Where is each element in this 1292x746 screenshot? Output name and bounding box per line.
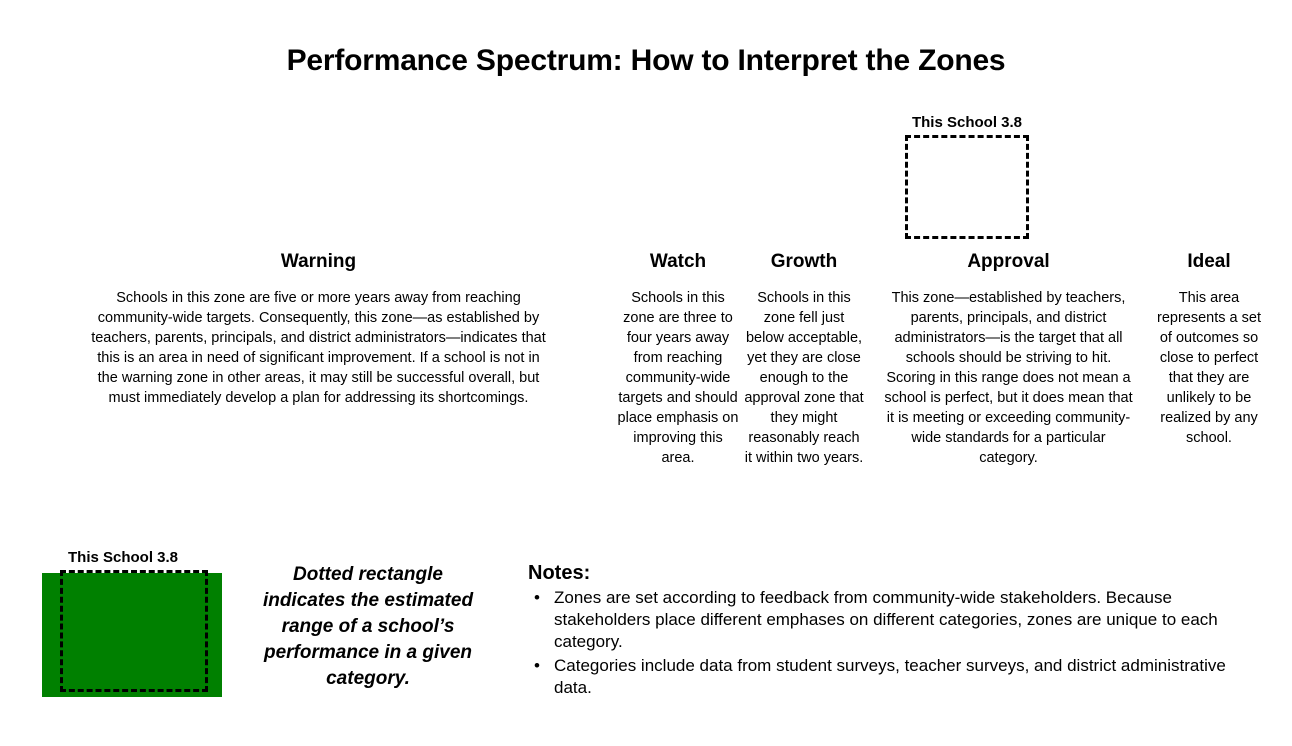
zone-column-watch: Watch Schools in this zone are three to … <box>615 250 741 468</box>
zone-columns: Warning Schools in this zone are five or… <box>22 250 1268 468</box>
legend-caption: Dotted rectangle indicates the estimated… <box>252 562 484 692</box>
zone-column-warning: Warning Schools in this zone are five or… <box>22 250 615 408</box>
notes-list: • Zones are set according to feedback fr… <box>528 587 1228 699</box>
this-school-marker: This School 3.8 <box>905 113 1029 239</box>
bullet-icon: • <box>534 655 540 677</box>
this-school-marker-dotted-rect <box>905 135 1029 239</box>
zone-description-approval: This zone—established by teachers, paren… <box>867 288 1150 468</box>
zone-label-approval: Approval <box>867 250 1150 274</box>
zone-description-watch: Schools in this zone are three to four y… <box>615 288 741 468</box>
zone-label-watch: Watch <box>615 250 741 274</box>
zone-label-growth: Growth <box>741 250 867 274</box>
zone-label-warning: Warning <box>22 250 615 274</box>
performance-spectrum-bar <box>22 138 1268 238</box>
note-item: • Categories include data from student s… <box>528 655 1228 699</box>
zone-description-warning: Schools in this zone are five or more ye… <box>22 288 615 408</box>
legend-marker-example: This School 3.8 <box>42 548 222 697</box>
legend-dotted-rect <box>60 570 208 692</box>
page-title: Performance Spectrum: How to Interpret t… <box>0 44 1292 78</box>
zone-column-ideal: Ideal This area represents a set of outc… <box>1150 250 1268 448</box>
zone-column-growth: Growth Schools in this zone fell just be… <box>741 250 867 468</box>
notes-heading: Notes: <box>528 561 1228 585</box>
note-item: • Zones are set according to feedback fr… <box>528 587 1228 653</box>
zone-description-ideal: This area represents a set of outcomes s… <box>1150 288 1268 448</box>
bullet-icon: • <box>534 587 540 609</box>
legend-marker-label: This School 3.8 <box>42 548 222 568</box>
zone-column-approval: Approval This zone—established by teache… <box>867 250 1150 468</box>
zone-label-ideal: Ideal <box>1150 250 1268 274</box>
note-item-text: Zones are set according to feedback from… <box>554 588 1218 651</box>
legend-swatch-wrap <box>42 573 222 697</box>
zone-description-growth: Schools in this zone fell just below acc… <box>741 288 867 468</box>
notes-section: Notes: • Zones are set according to feed… <box>528 561 1228 701</box>
this-school-marker-label: This School 3.8 <box>905 113 1029 133</box>
note-item-text: Categories include data from student sur… <box>554 656 1226 697</box>
